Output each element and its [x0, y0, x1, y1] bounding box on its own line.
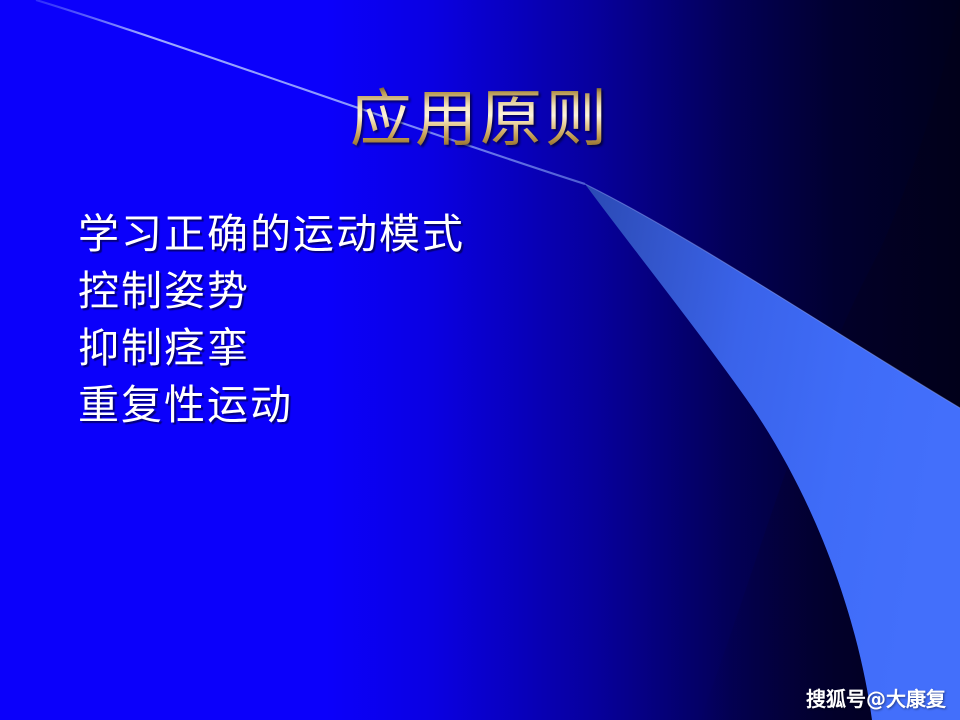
list-item: 重复性运动 [78, 377, 465, 434]
list-item: 抑制痉挛 [78, 320, 465, 377]
watermark-label: 搜狐号@大康复 [806, 683, 946, 712]
presentation-slide: 应用原则 学习正确的运动模式 控制姿势 抑制痉挛 重复性运动 搜狐号@大康复 [0, 0, 960, 720]
slide-title-container: 应用原则 [0, 86, 960, 153]
list-item: 控制姿势 [78, 263, 465, 320]
page-title: 应用原则 [350, 86, 610, 153]
list-item: 学习正确的运动模式 [78, 206, 465, 263]
slide-body-list: 学习正确的运动模式 控制姿势 抑制痉挛 重复性运动 [78, 206, 465, 434]
